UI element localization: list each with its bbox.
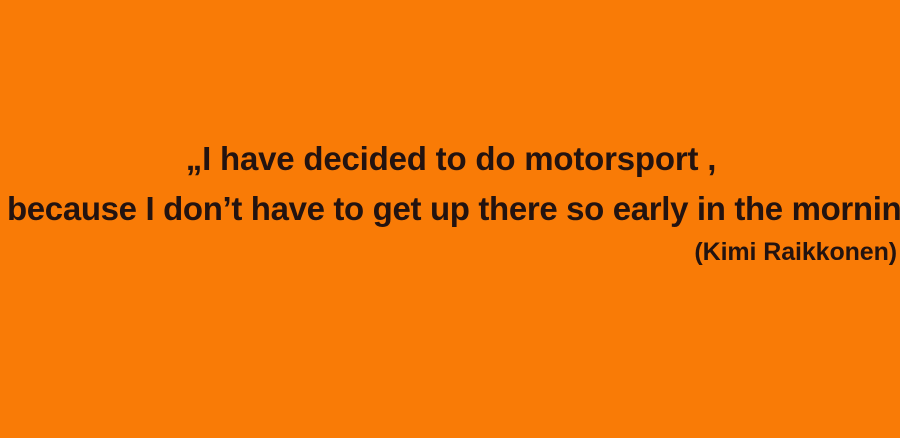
quote-image-canvas: „I have decided to do motorsport , becau… [0, 0, 900, 438]
quote-line-2: because I don’t have to get up there so … [7, 192, 897, 225]
quote-attribution: (Kimi Raikkonen) [694, 240, 897, 265]
quote-block: „I have decided to do motorsport , becau… [0, 0, 900, 438]
quote-line-1: „I have decided to do motorsport , [1, 142, 900, 175]
